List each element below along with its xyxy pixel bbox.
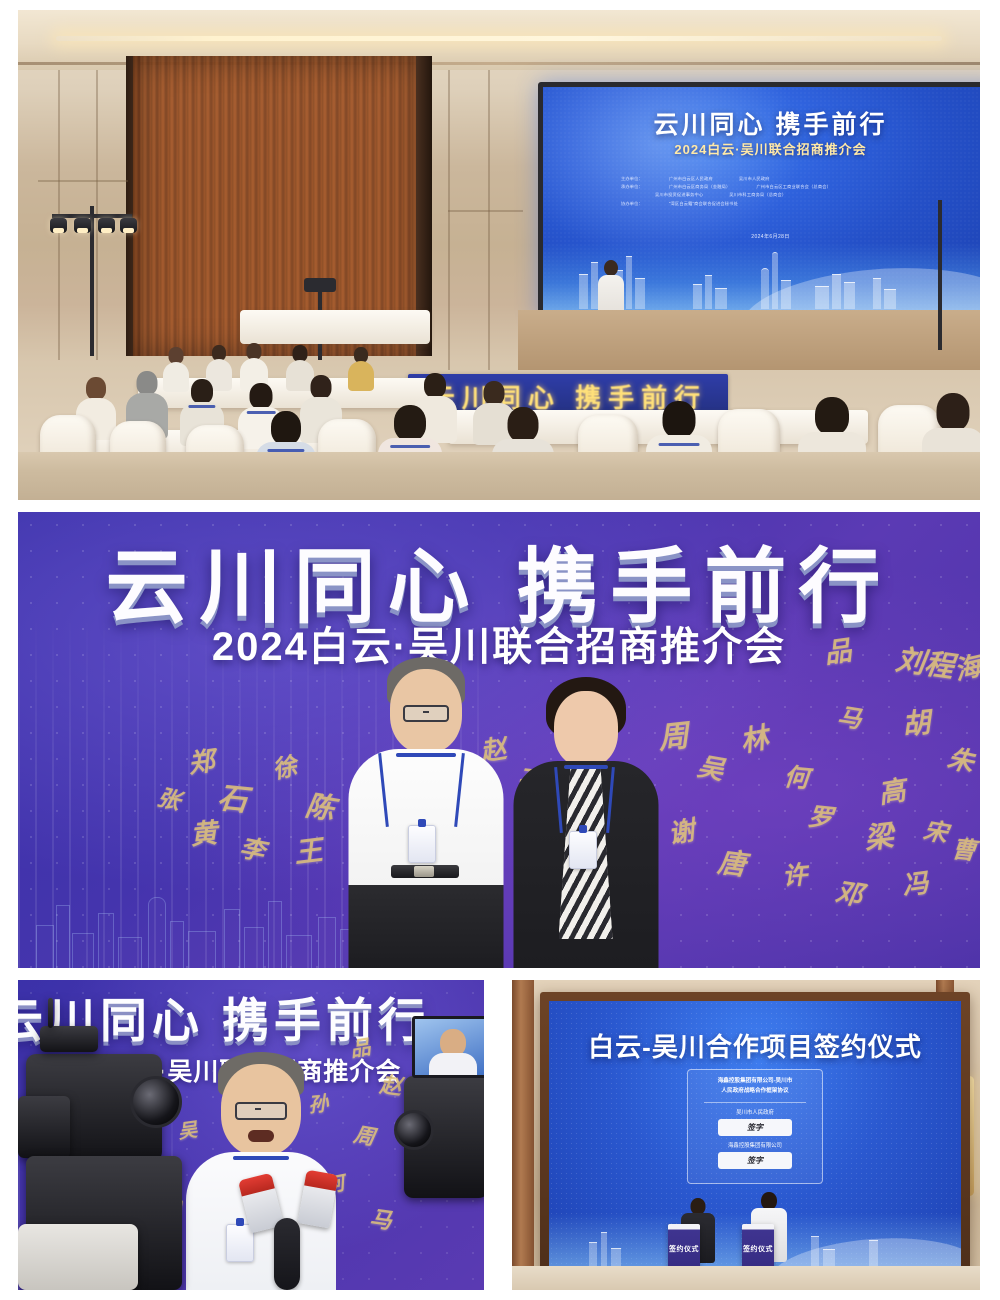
signature-box-1: 签字 [718, 1119, 792, 1136]
photo-signature-wall: 云川同心 携手前行 2024白云·吴川联合招商推介会 郑 石 徐 陈 黄 李 王… [18, 512, 980, 968]
audience-lanyard [659, 443, 700, 446]
credit-label: 主办单位： [621, 175, 643, 183]
hall-floor [18, 452, 980, 500]
interviewee-mouth [248, 1130, 274, 1142]
wall-column-left [512, 980, 534, 1290]
lighting-truss [46, 206, 142, 252]
photo-signing-ceremony: 白云-吴川合作项目签约仪式 海鑫控股集团有限公司-吴川市 人民政府战略合作框架协… [512, 980, 980, 1290]
camera-lens [394, 1110, 434, 1150]
ceremony-floor [512, 1266, 980, 1290]
credit-value: 广州市白云区人民政府 [669, 175, 713, 183]
person-man [348, 657, 503, 968]
agreement-party-2: 海鑫控股集团有限公司 [688, 1141, 822, 1149]
agreement-card: 海鑫控股集团有限公司-吴川市 人民政府战略合作框架协议 吴川市人民政府 签字 海… [687, 1069, 823, 1184]
monitor-preview-body [429, 1053, 477, 1077]
stage-light [74, 218, 91, 233]
card-divider [704, 1102, 806, 1103]
stage-light [50, 218, 67, 233]
camera-grip [18, 1096, 70, 1158]
credit-value: 吴川市科工商务局（总商会） [729, 191, 786, 199]
man-lanyard-strap [396, 753, 456, 757]
screen-credits: 主办单位：广州市白云区人民政府吴川市人民政府 承办单位：广州市白云区商务局（金融… [621, 175, 921, 208]
presenter-head [604, 260, 618, 276]
man-belt-buckle [414, 866, 434, 877]
camera-monitor [412, 1016, 484, 1078]
credit-label: 协办单位： [621, 200, 643, 208]
screen-date: 2024年6月28日 [543, 233, 980, 240]
ceiling-light-strip [56, 36, 941, 41]
audience-person [348, 347, 374, 391]
podium-right-label: 签约仪式 [742, 1246, 774, 1255]
person-woman [513, 677, 658, 968]
credit-value: “湾区白云籍”商会联合促进会秘书处 [669, 200, 738, 208]
agreement-party-1: 吴川市人民政府 [688, 1108, 822, 1116]
photo-conference-hall: 云川同心 携手前行 2024白云·吴川联合招商推介会 主办单位：广州市白云区人民… [18, 10, 980, 500]
interviewee-lanyard [233, 1156, 289, 1160]
camera-lens [130, 1076, 182, 1128]
man-id-badge [408, 825, 436, 863]
agreement-name-line-2: 人民政府战略合作框架协议 [688, 1087, 822, 1097]
woman-face [554, 691, 618, 767]
signature-box-2: 签字 [718, 1152, 792, 1169]
credit-value: 吴川市投资促进事务中心 [655, 191, 703, 199]
screen-title: 云川同心 携手前行 [543, 105, 980, 141]
ceremony-screen-title: 白云-吴川合作项目签约仪式 [549, 1027, 961, 1064]
eyeglasses [235, 1102, 287, 1120]
camera-antenna [48, 998, 53, 1028]
credit-value: 广州市白云区工商业联合会（总商会） [756, 183, 831, 191]
credit-value: 吴川市人民政府 [739, 175, 770, 183]
woman-id-badge [569, 831, 597, 869]
eyeglasses [403, 705, 449, 722]
stage-light [98, 218, 115, 233]
wall-seam [38, 180, 128, 182]
photo-media-interview: 云川同心 携手前行 白云·吴川联合招商推介会 品 赵 孙 周 吴 林 何 马 胡… [18, 980, 484, 1290]
credit-value: 广州市白云区商务局（金融局） [669, 183, 730, 191]
audience-lanyard [188, 405, 215, 408]
photo-collage: 云川同心 携手前行 2024白云·吴川联合招商推介会 主办单位：广州市白云区人民… [0, 0, 1000, 1300]
camera-operator-arm [18, 1224, 138, 1290]
agreement-name-line-1: 海鑫控股集团有限公司-吴川市 [688, 1077, 822, 1087]
podium-left-label: 签约仪式 [668, 1246, 700, 1255]
screen-subtitle: 2024白云·吴川联合招商推介会 [543, 139, 980, 158]
camera-top-handle [40, 1026, 98, 1052]
audience-lanyard [390, 445, 430, 448]
wall-seam [448, 210, 523, 212]
stage-light [120, 218, 137, 233]
handheld-microphone [274, 1218, 300, 1290]
credit-label: 承办单位： [621, 183, 643, 191]
woman-lanyard-strap [564, 765, 608, 769]
